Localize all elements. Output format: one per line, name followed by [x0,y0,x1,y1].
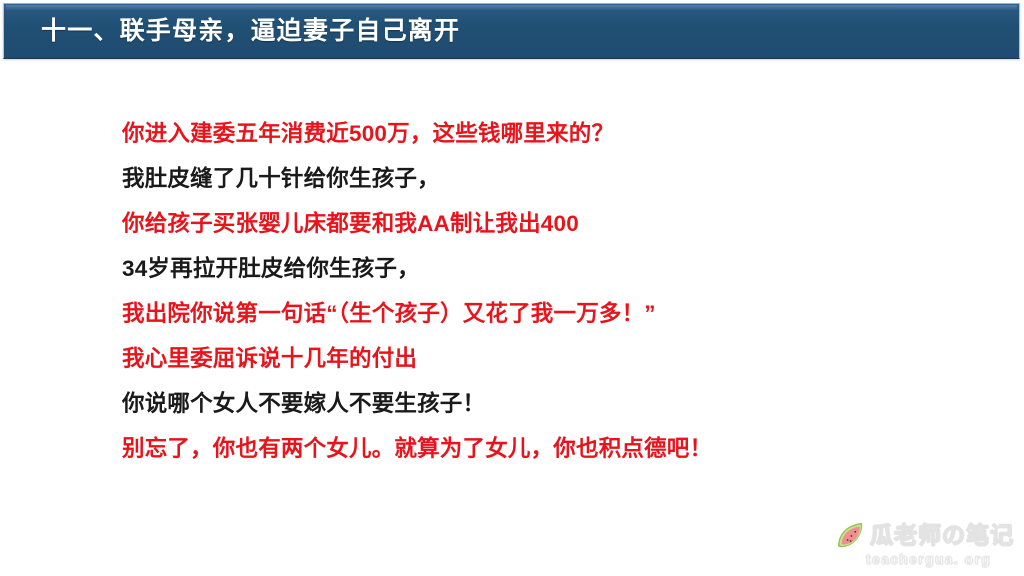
text-line: 我肚皮缝了几十针给你生孩子， [122,157,942,202]
text-line: 你给孩子买张婴儿床都要和我AA制让我出400 [122,202,942,247]
slide-canvas: 十一、联手母亲，逼迫妻子自己离开 你进入建委五年消费近500万，这些钱哪里来的？… [0,0,1024,576]
text-line: 34岁再拉开肚皮给你生孩子， [122,247,942,292]
watermark-url-text: teachergua. org [866,553,991,567]
watermark: 瓜老师の笔记 teachergua. org [836,519,1016,571]
text-line: 我出院你说第一句话“（生个孩子）又花了我一万多！” [122,292,942,337]
page-title: 十一、联手母亲，逼迫妻子自己离开 [41,19,460,44]
text-line: 我心里委屈诉说十几年的付出 [122,337,942,382]
watermark-row: 瓜老师の笔记 [836,519,1014,551]
watermark-brand-text: 瓜老师の笔记 [870,524,1014,547]
slide-header-band: 十一、联手母亲，逼迫妻子自己离开 [3,3,1020,59]
watermelon-slice-icon [836,521,866,549]
slide-body-text-block: 你进入建委五年消费近500万，这些钱哪里来的？ 我肚皮缝了几十针给你生孩子， 你… [122,112,942,472]
text-line: 你说哪个女人不要嫁人不要生孩子！ [122,382,942,427]
text-line: 别忘了，你也有两个女儿。就算为了女儿，你也积点德吧！ [122,427,942,472]
text-line: 你进入建委五年消费近500万，这些钱哪里来的？ [122,112,942,157]
